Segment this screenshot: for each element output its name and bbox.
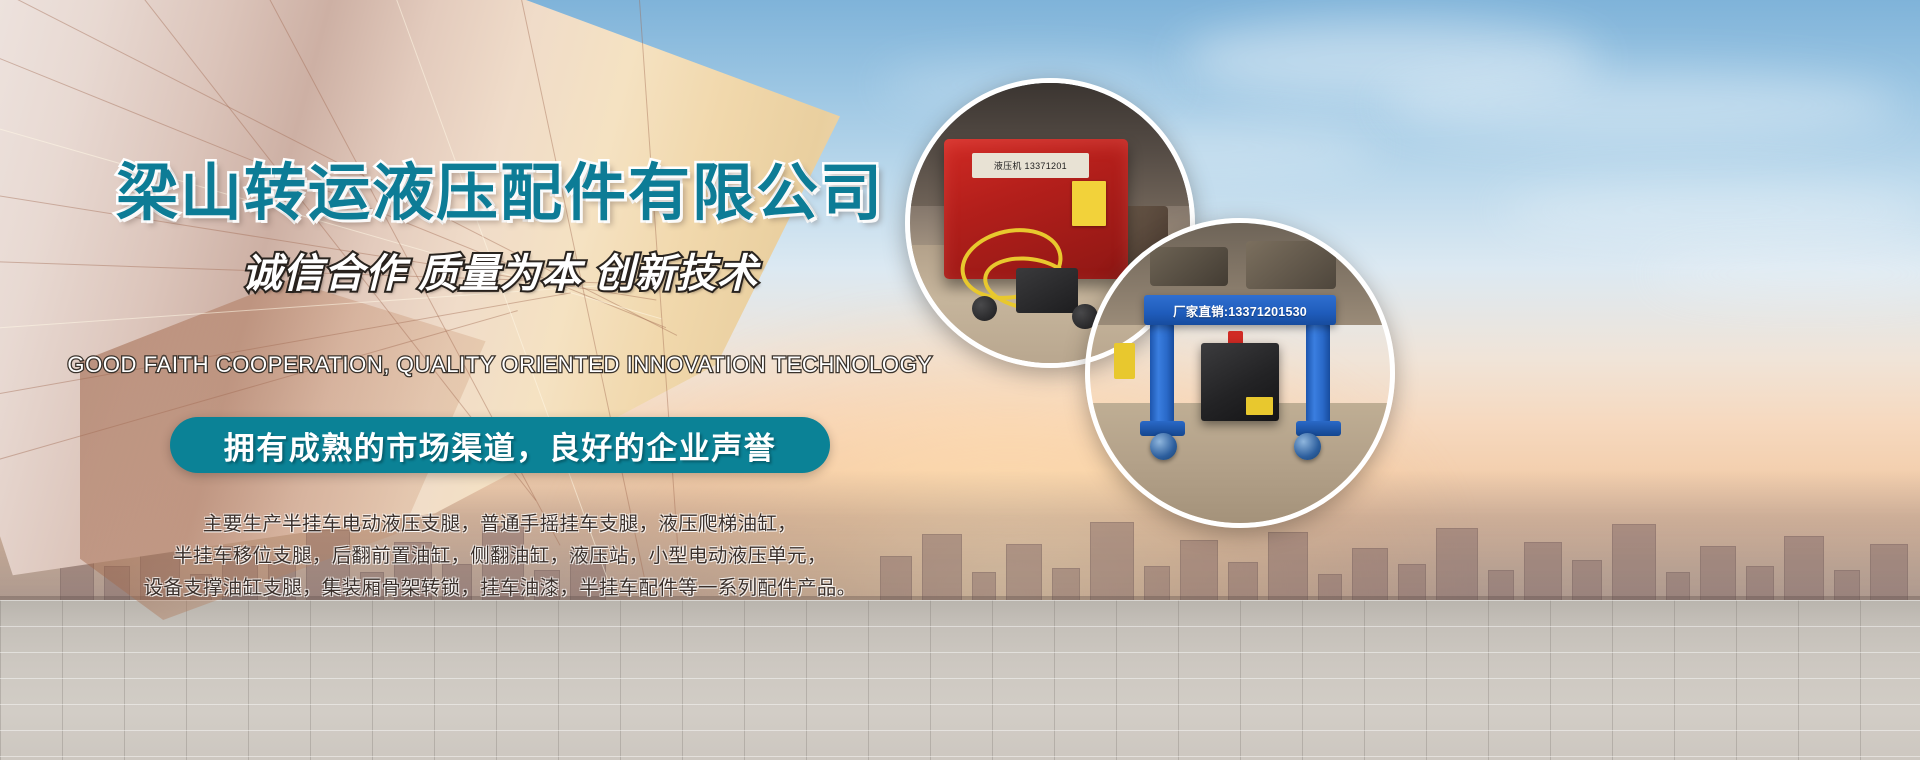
banner-subtitle: 诚信合作 质量为本 创新技术 <box>0 252 1000 296</box>
product-photo-blue-machine: 厂家直销:13371201530 <box>1085 218 1395 528</box>
description-line: 半挂车移位支腿，后翻前置油缸，侧翻油缸，液压站，小型电动液压单元， <box>0 540 1000 572</box>
cloud-decoration <box>1500 180 1920 240</box>
company-title: 梁山转运液压配件有限公司 <box>0 163 1000 225</box>
hero-banner: 梁山转运液压配件有限公司 诚信合作 质量为本 创新技术 GOOD FAITH C… <box>0 0 1920 760</box>
english-tagline: GOOD FAITH COOPERATION, QUALITY ORIENTED… <box>0 352 1000 378</box>
highlight-pill-label: 拥有成熟的市场渠道，良好的企业声誉 <box>224 423 777 468</box>
description-line: 设备支撑油缸支腿，集装厢骨架转锁，挂车油漆，半挂车配件等一系列配件产品。 <box>0 572 1000 604</box>
product-description: 主要生产半挂车电动液压支腿，普通手摇挂车支腿，液压爬梯油缸， 半挂车移位支腿，后… <box>0 508 1000 604</box>
factory-direct-phone-label: 厂家直销:13371201530 <box>1173 301 1307 320</box>
highlight-pill: 拥有成熟的市场渠道，良好的企业声誉 <box>170 417 830 473</box>
red-machine-caption: 液压机 13371201 <box>972 153 1090 178</box>
plaza-tile-lines <box>0 600 1920 760</box>
cloud-decoration <box>1380 70 1900 140</box>
description-line: 主要生产半挂车电动液压支腿，普通手摇挂车支腿，液压爬梯油缸， <box>0 508 1000 540</box>
